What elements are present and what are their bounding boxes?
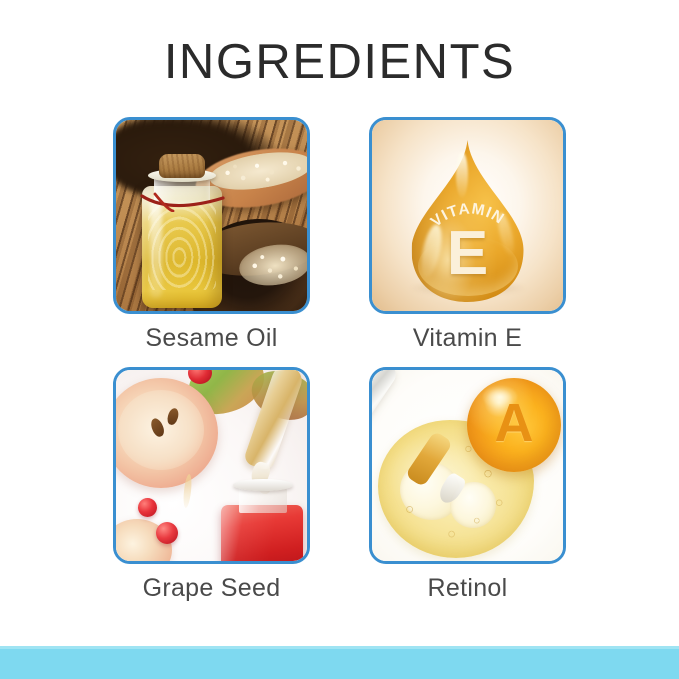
footer-accent-bar xyxy=(0,646,679,679)
red-bottle-body xyxy=(221,505,303,561)
cork-stopper-icon xyxy=(159,154,205,178)
ingredient-card-sesame-oil[interactable]: Sesame Oil xyxy=(113,117,310,353)
red-twine xyxy=(139,192,227,212)
ingredient-card-grape-seed[interactable]: Grape Seed xyxy=(113,367,310,603)
twine-svg xyxy=(139,192,227,212)
grape-seed-illustration xyxy=(116,370,307,561)
ingredient-thumbnail-retinol[interactable]: A xyxy=(369,367,566,564)
ingredient-thumbnail-vitamin-e[interactable]: VITAMIN E xyxy=(369,117,566,314)
retinol-illustration: A xyxy=(372,370,563,561)
droplet-letter-e: E xyxy=(412,223,524,285)
sphere-letter-a: A xyxy=(467,396,561,450)
red-bottle-lip xyxy=(233,479,293,491)
red-berry-1 xyxy=(138,498,157,517)
ingredient-card-vitamin-e[interactable]: VITAMIN E Vitamin E xyxy=(369,117,566,353)
ingredient-label-grape-seed: Grape Seed xyxy=(113,573,310,603)
vitamin-e-illustration: VITAMIN E xyxy=(372,120,563,311)
ingredient-label-sesame-oil: Sesame Oil xyxy=(113,323,310,353)
ingredient-label-vitamin-e: Vitamin E xyxy=(369,323,566,353)
ingredient-thumbnail-sesame-oil[interactable] xyxy=(113,117,310,314)
ingredient-label-retinol: Retinol xyxy=(369,573,566,603)
oil-droplet-icon: VITAMIN E xyxy=(412,140,524,302)
ingredient-card-retinol[interactable]: A Retinol xyxy=(369,367,566,603)
ingredient-thumbnail-grape-seed[interactable] xyxy=(113,367,310,564)
ingredients-grid: Sesame Oil VITAMI xyxy=(113,117,566,603)
bottle-glare xyxy=(150,198,162,298)
sesame-oil-illustration xyxy=(116,120,307,311)
page-title: INGREDIENTS xyxy=(0,38,679,87)
red-oil-bottle-icon xyxy=(219,479,303,561)
red-berry-2 xyxy=(156,522,178,544)
oil-bottle-icon xyxy=(142,162,222,308)
